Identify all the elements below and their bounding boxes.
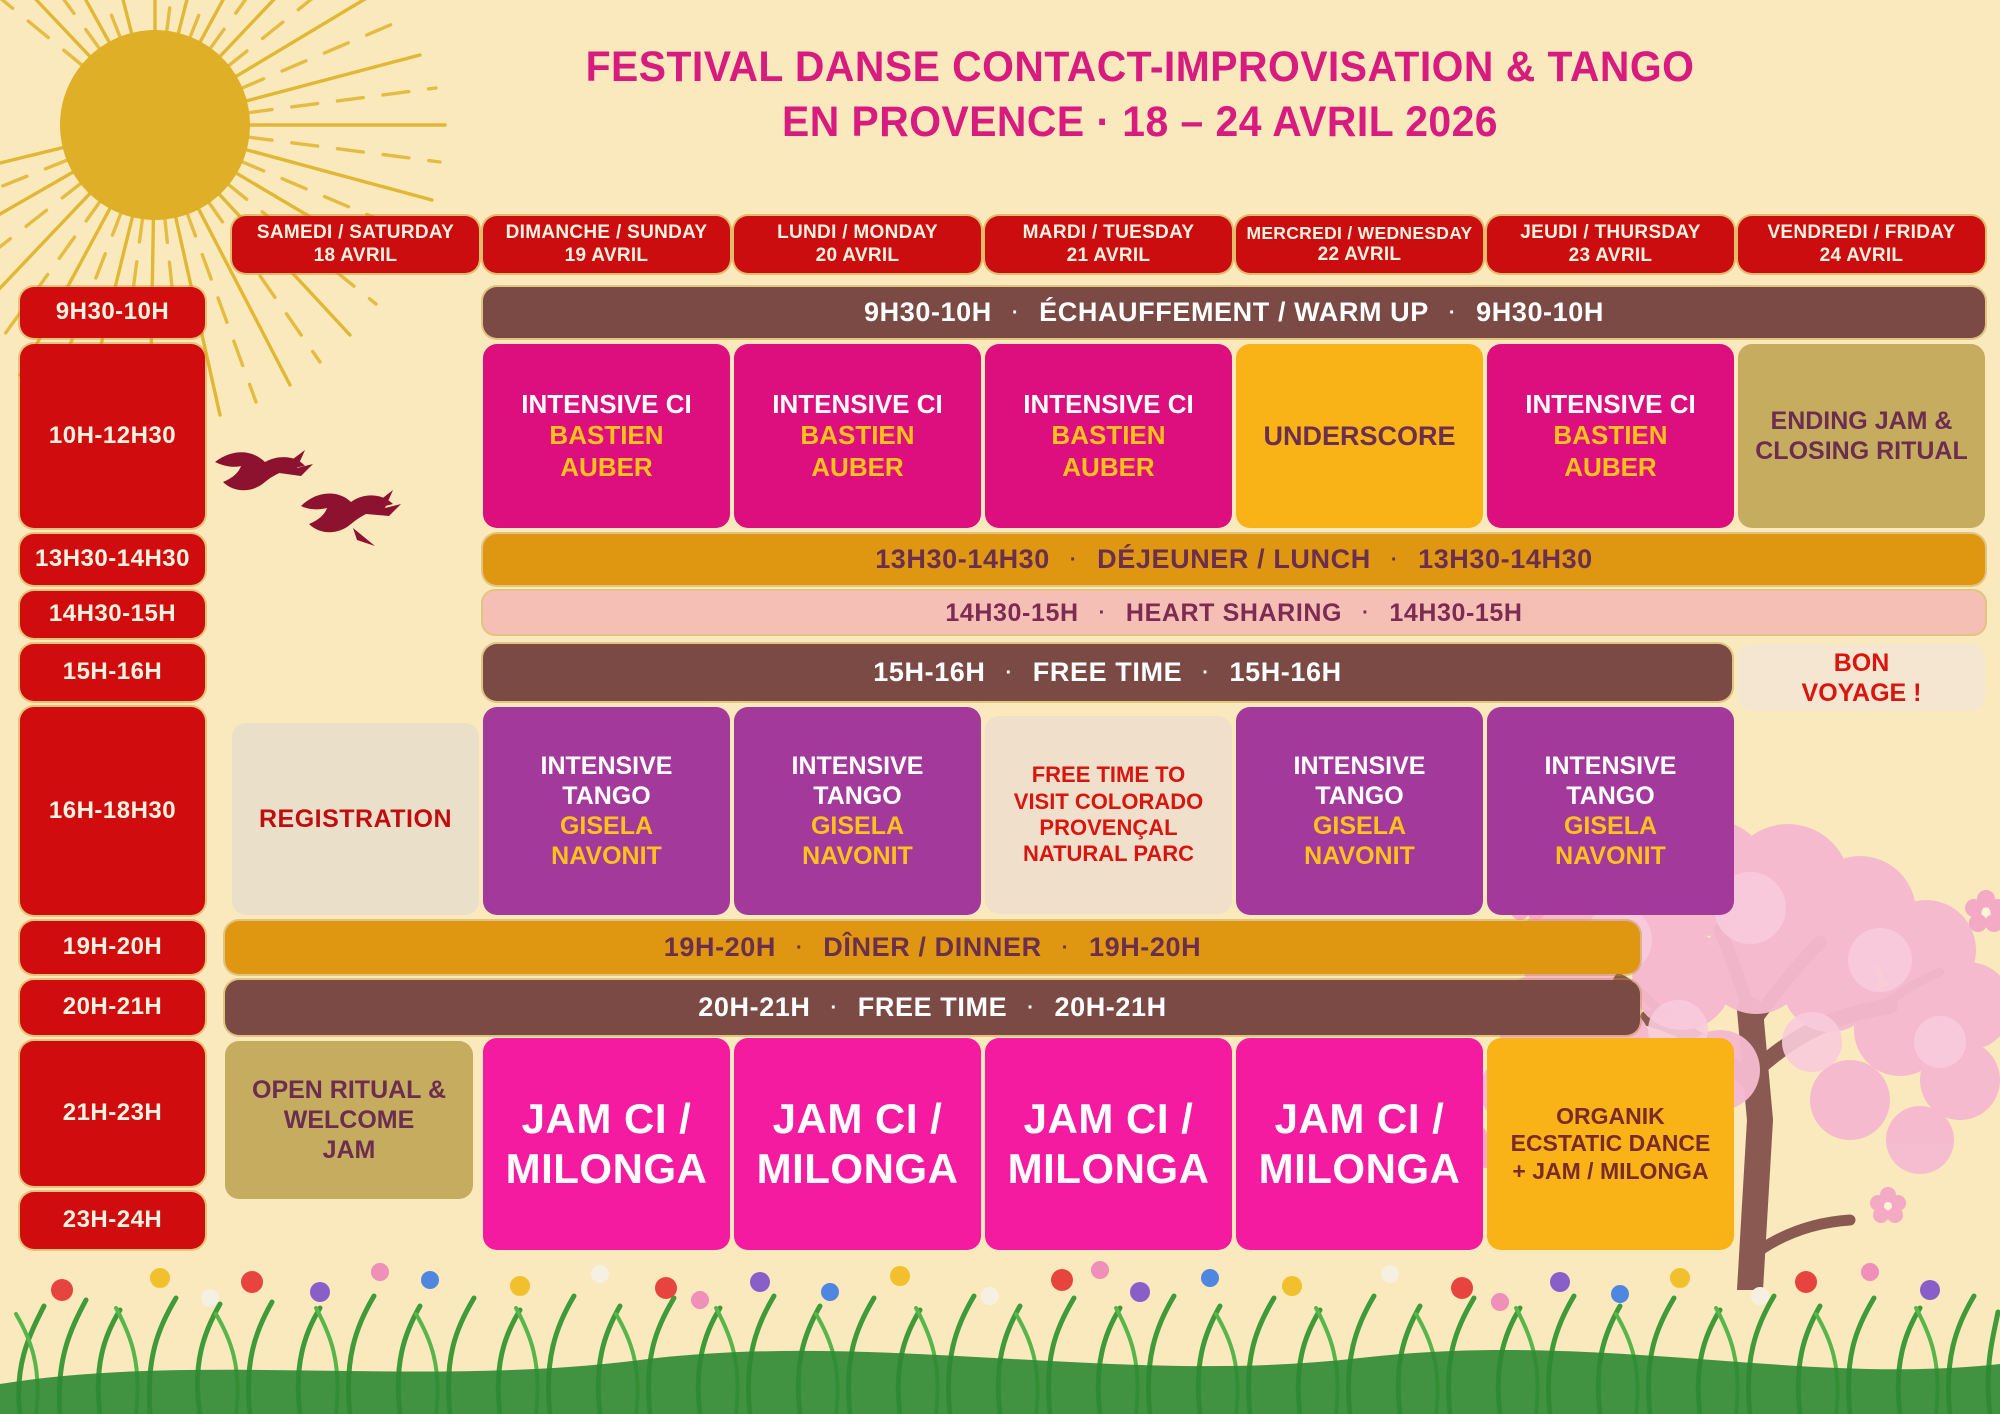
banner-dot: ·	[1021, 996, 1040, 1020]
banner-dot: ·	[1443, 301, 1462, 325]
session-activity: INTENSIVE CI	[1023, 389, 1193, 420]
day-date: 18 AVRIL	[314, 245, 398, 268]
session-line-2: CLOSING RITUAL	[1755, 436, 1968, 466]
session-intensive-tango-thursday[interactable]: INTENSIVE TANGO GISELA NAVONIT	[1487, 707, 1734, 915]
banner-label: FREE TIME	[1019, 656, 1196, 688]
session-activity-line-2: TANGO	[813, 781, 901, 811]
banner-dot: ·	[790, 936, 809, 960]
session-activity-line-1: INTENSIVE	[541, 751, 673, 781]
session-activity: INTENSIVE CI	[521, 389, 691, 420]
session-teacher-last: AUBER	[811, 452, 903, 483]
banner-left-time: 19H-20H	[650, 931, 790, 963]
day-date: 22 AVRIL	[1318, 244, 1402, 267]
session-teacher-last: AUBER	[560, 452, 652, 483]
session-activity-line-1: INTENSIVE	[792, 751, 924, 781]
day-header-tuesday: MARDI / TUESDAY 21 AVRIL	[985, 216, 1232, 273]
banner-label: DÎNER / DINNER	[809, 931, 1055, 963]
banner-dot: ·	[1064, 548, 1083, 572]
session-organik-ecstatic-dance-thursday[interactable]: ORGANIK ECSTATIC DANCE + JAM / MILONGA	[1487, 1038, 1734, 1250]
session-intensive-ci-monday[interactable]: INTENSIVE CI BASTIEN AUBER	[734, 344, 981, 528]
session-teacher-first: BASTIEN	[800, 420, 914, 451]
day-header-friday: VENDREDI / FRIDAY 24 AVRIL	[1738, 216, 1985, 273]
time-slot-1430-1500: 14H30-15H	[20, 591, 205, 638]
session-line-1: ENDING JAM &	[1771, 406, 1953, 436]
banner-dot: ·	[1356, 601, 1375, 625]
session-intensive-tango-monday[interactable]: INTENSIVE TANGO GISELA NAVONIT	[734, 707, 981, 915]
schedule-grid: SAMEDI / SATURDAY 18 AVRIL DIMANCHE / SU…	[0, 0, 2000, 1414]
time-slot-1330-1430: 13H30-14H30	[20, 534, 205, 585]
session-line-1: FREE TIME TO	[1032, 762, 1186, 788]
time-slot-1000-1230: 10H-12H30	[20, 344, 205, 528]
session-teacher-last: AUBER	[1564, 452, 1656, 483]
session-activity-line-1: INTENSIVE	[1294, 751, 1426, 781]
day-name: DIMANCHE / SUNDAY	[506, 222, 708, 245]
session-activity-line-2: TANGO	[1566, 781, 1654, 811]
session-teacher-last: NAVONIT	[1555, 841, 1666, 871]
banner-left-time: 14H30-15H	[931, 598, 1092, 628]
session-line-1: ORGANIK	[1556, 1103, 1665, 1131]
banner-right-time: 15H-16H	[1215, 656, 1355, 688]
session-jam-milonga-wednesday[interactable]: JAM CI / MILONGA	[1236, 1038, 1483, 1250]
time-slot-2000-2100: 20H-21H	[20, 980, 205, 1035]
day-date: 21 AVRIL	[1067, 245, 1151, 268]
session-teacher-first: GISELA	[811, 811, 904, 841]
banner-right-time: 20H-21H	[1040, 991, 1180, 1023]
time-slot-2300-2400: 23H-24H	[20, 1192, 205, 1249]
session-intensive-ci-sunday[interactable]: INTENSIVE CI BASTIEN AUBER	[483, 344, 730, 528]
session-activity-line-2: TANGO	[562, 781, 650, 811]
day-header-wednesday: MERCREDI / WEDNESDAY 22 AVRIL	[1236, 216, 1483, 273]
day-date: 20 AVRIL	[816, 245, 900, 268]
bon-voyage-line-1: BON	[1834, 648, 1890, 678]
banner-label: HEART SHARING	[1112, 598, 1356, 628]
day-header-saturday: SAMEDI / SATURDAY 18 AVRIL	[232, 216, 479, 273]
session-intensive-tango-sunday[interactable]: INTENSIVE TANGO GISELA NAVONIT	[483, 707, 730, 915]
page-title: FESTIVAL DANSE CONTACT-IMPROVISATION & T…	[400, 40, 1880, 150]
banner-label: ÉCHAUFFEMENT / WARM UP	[1025, 296, 1443, 328]
session-intensive-ci-thursday[interactable]: INTENSIVE CI BASTIEN AUBER	[1487, 344, 1734, 528]
day-name: SAMEDI / SATURDAY	[257, 222, 454, 245]
title-line-1: FESTIVAL DANSE CONTACT-IMPROVISATION & T…	[437, 40, 1843, 95]
session-intensive-tango-wednesday[interactable]: INTENSIVE TANGO GISELA NAVONIT	[1236, 707, 1483, 915]
session-teacher-first: GISELA	[1564, 811, 1657, 841]
session-line-2: ECSTATIC DANCE	[1511, 1130, 1711, 1158]
banner-free-time-afternoon: 15H-16H · FREE TIME · 15H-16H	[483, 644, 1732, 701]
banner-left-time: 15H-16H	[859, 656, 999, 688]
banner-dinner: 19H-20H · DÎNER / DINNER · 19H-20H	[225, 921, 1640, 974]
session-line-2: MILONGA	[1008, 1144, 1210, 1194]
session-jam-milonga-tuesday[interactable]: JAM CI / MILONGA	[985, 1038, 1232, 1250]
session-activity-line-2: TANGO	[1315, 781, 1403, 811]
session-teacher-last: NAVONIT	[1304, 841, 1415, 871]
banner-dot: ·	[1196, 661, 1215, 685]
session-jam-milonga-sunday[interactable]: JAM CI / MILONGA	[483, 1038, 730, 1250]
banner-lunch: 13H30-14H30 · DÉJEUNER / LUNCH · 13H30-1…	[483, 534, 1985, 585]
session-line-1: JAM CI /	[773, 1094, 943, 1144]
banner-dot: ·	[1385, 548, 1404, 572]
session-line-4: NATURAL PARC	[1023, 841, 1194, 867]
session-underscore-wednesday[interactable]: UNDERSCORE	[1236, 344, 1483, 528]
session-label: REGISTRATION	[259, 804, 452, 834]
banner-heart-sharing: 14H30-15H · HEART SHARING · 14H30-15H	[483, 591, 1985, 634]
session-line-3: PROVENÇAL	[1039, 815, 1177, 841]
title-line-2: EN PROVENCE · 18 – 24 AVRIL 2026	[437, 95, 1843, 150]
time-slot-1500-1600: 15H-16H	[20, 644, 205, 701]
day-name: MERCREDI / WEDNESDAY	[1246, 223, 1472, 244]
banner-left-time: 9H30-10H	[850, 296, 1006, 328]
session-line-3: JAM	[323, 1135, 376, 1165]
session-activity: INTENSIVE CI	[772, 389, 942, 420]
session-registration-saturday[interactable]: REGISTRATION	[232, 723, 479, 915]
session-teacher-first: BASTIEN	[549, 420, 663, 451]
session-teacher-last: NAVONIT	[802, 841, 913, 871]
banner-right-time: 13H30-14H30	[1404, 543, 1607, 575]
day-date: 24 AVRIL	[1820, 245, 1904, 268]
session-activity-line-1: INTENSIVE	[1545, 751, 1677, 781]
session-line-1: JAM CI /	[1024, 1094, 1194, 1144]
session-line-3: + JAM / MILONGA	[1512, 1158, 1708, 1186]
banner-dot: ·	[1093, 601, 1112, 625]
session-line-1: JAM CI /	[1275, 1094, 1445, 1144]
day-header-sunday: DIMANCHE / SUNDAY 19 AVRIL	[483, 216, 730, 273]
session-line-2: WELCOME	[284, 1105, 415, 1135]
day-header-monday: LUNDI / MONDAY 20 AVRIL	[734, 216, 981, 273]
festival-schedule-poster: FESTIVAL DANSE CONTACT-IMPROVISATION & T…	[0, 0, 2000, 1414]
banner-dot: ·	[1006, 301, 1025, 325]
session-open-ritual-saturday[interactable]: OPEN RITUAL & WELCOME JAM	[225, 1041, 473, 1199]
banner-dot: ·	[825, 996, 844, 1020]
session-line-2: MILONGA	[757, 1144, 959, 1194]
session-label: UNDERSCORE	[1263, 420, 1455, 452]
day-name: JEUDI / THURSDAY	[1520, 222, 1700, 245]
bon-voyage-line-2: VOYAGE !	[1802, 678, 1922, 708]
time-slot-1600-1830: 16H-18H30	[20, 707, 205, 915]
banner-dot: ·	[1056, 936, 1075, 960]
session-line-1: JAM CI /	[522, 1094, 692, 1144]
day-header-thursday: JEUDI / THURSDAY 23 AVRIL	[1487, 216, 1734, 273]
banner-free-time-evening: 20H-21H · FREE TIME · 20H-21H	[225, 980, 1640, 1035]
time-slot-2100-2300: 21H-23H	[20, 1041, 205, 1186]
session-teacher-last: AUBER	[1062, 452, 1154, 483]
banner-warm-up: 9H30-10H · ÉCHAUFFEMENT / WARM UP · 9H30…	[483, 287, 1985, 338]
day-date: 23 AVRIL	[1569, 245, 1653, 268]
banner-right-time: 14H30-15H	[1375, 598, 1536, 628]
banner-right-time: 19H-20H	[1075, 931, 1215, 963]
session-ending-jam-friday[interactable]: ENDING JAM & CLOSING RITUAL	[1738, 344, 1985, 528]
banner-right-time: 9H30-10H	[1462, 296, 1618, 328]
session-bon-voyage-friday: BON VOYAGE !	[1738, 644, 1985, 711]
session-teacher-first: GISELA	[1313, 811, 1406, 841]
session-teacher-first: BASTIEN	[1553, 420, 1667, 451]
session-intensive-ci-tuesday[interactable]: INTENSIVE CI BASTIEN AUBER	[985, 344, 1232, 528]
day-date: 19 AVRIL	[565, 245, 649, 268]
day-name: VENDREDI / FRIDAY	[1767, 222, 1955, 245]
session-line-1: OPEN RITUAL &	[252, 1075, 446, 1105]
session-teacher-first: BASTIEN	[1051, 420, 1165, 451]
banner-label: FREE TIME	[844, 991, 1021, 1023]
session-teacher-last: NAVONIT	[551, 841, 662, 871]
session-line-2: MILONGA	[1259, 1144, 1461, 1194]
time-slot-1900-2000: 19H-20H	[20, 921, 205, 974]
banner-label: DÉJEUNER / LUNCH	[1083, 543, 1385, 575]
banner-left-time: 20H-21H	[684, 991, 824, 1023]
session-jam-milonga-monday[interactable]: JAM CI / MILONGA	[734, 1038, 981, 1250]
session-colorado-provencal-tuesday[interactable]: FREE TIME TO VISIT COLORADO PROVENÇAL NA…	[985, 716, 1232, 914]
day-name: MARDI / TUESDAY	[1023, 222, 1195, 245]
session-teacher-first: GISELA	[560, 811, 653, 841]
session-line-2: MILONGA	[506, 1144, 708, 1194]
banner-left-time: 13H30-14H30	[861, 543, 1064, 575]
day-name: LUNDI / MONDAY	[777, 222, 938, 245]
banner-dot: ·	[1000, 661, 1019, 685]
session-line-2: VISIT COLORADO	[1014, 789, 1203, 815]
time-slot-0930-1000: 9H30-10H	[20, 287, 205, 338]
session-activity: INTENSIVE CI	[1525, 389, 1695, 420]
